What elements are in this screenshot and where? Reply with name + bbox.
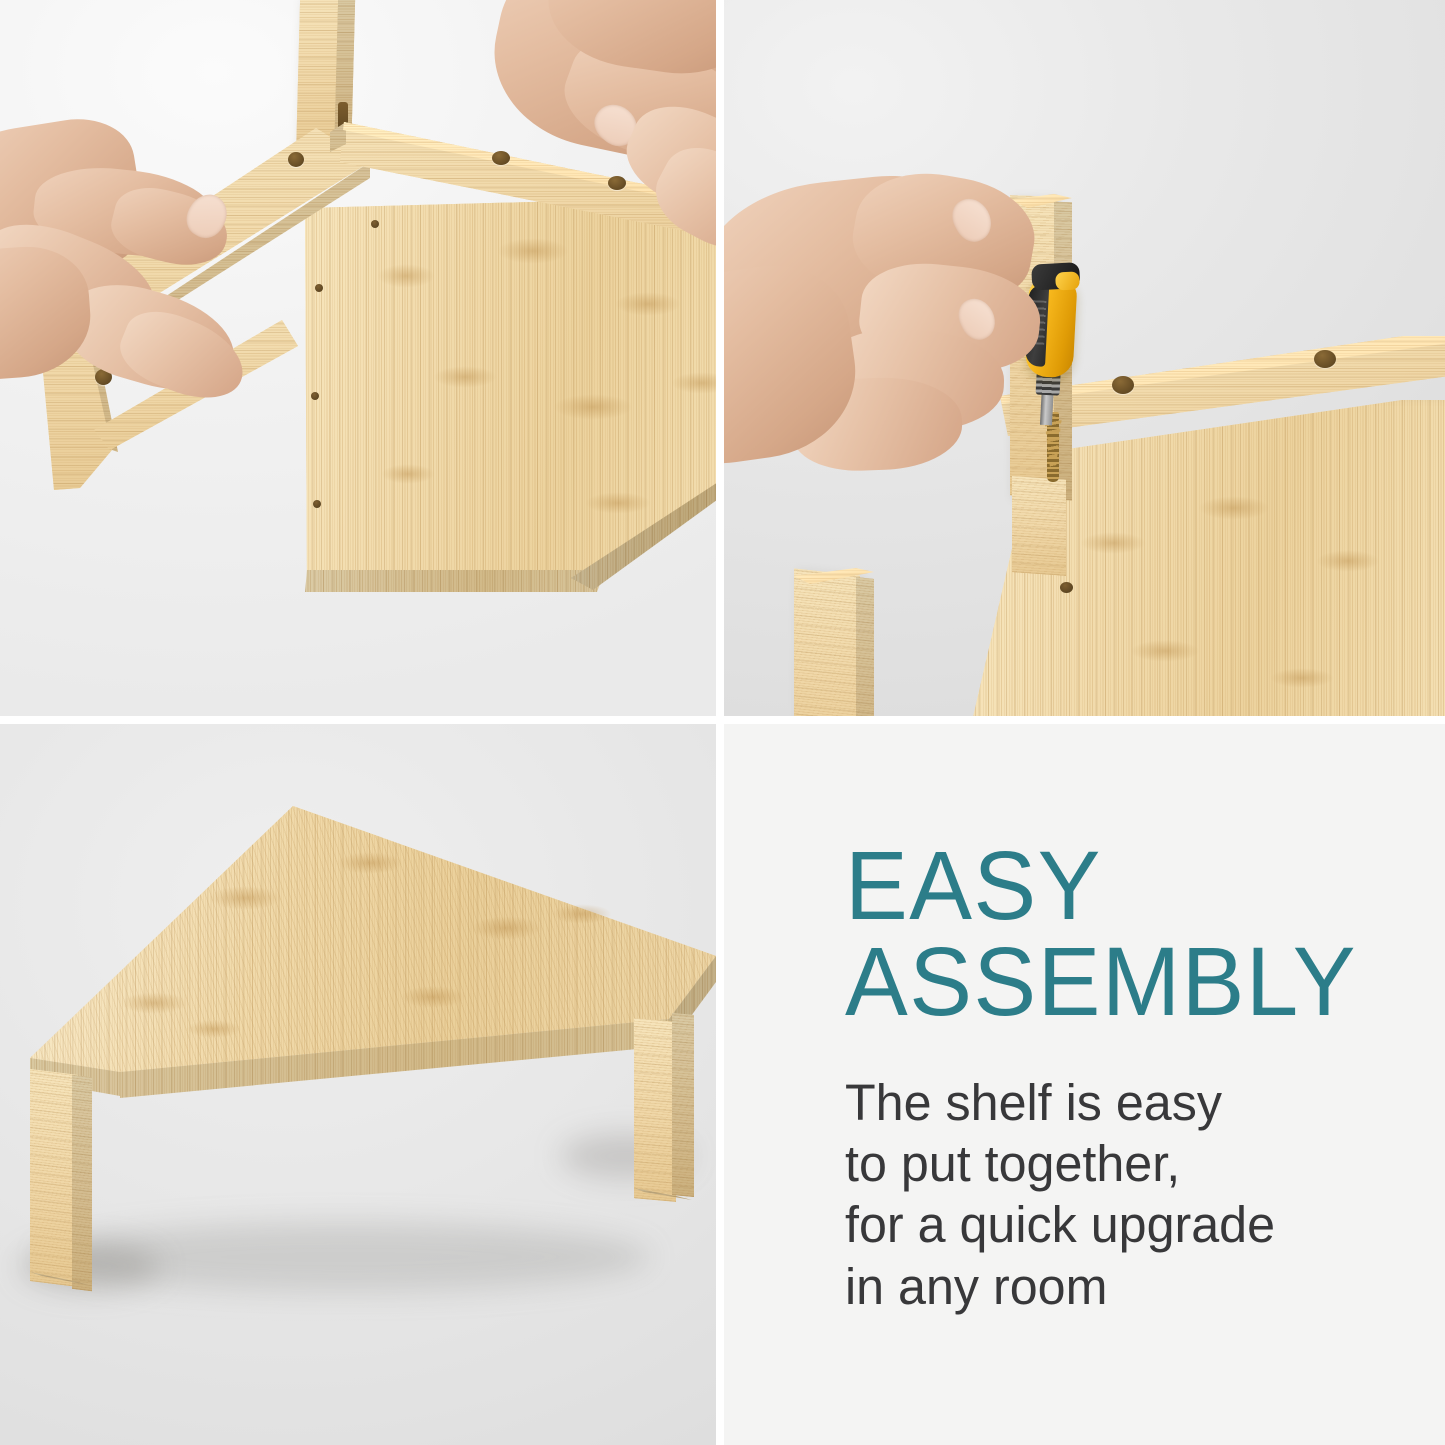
hand-left [0, 108, 290, 438]
panel-assembly-step-screwing [724, 0, 1445, 716]
marketing-copy: EASY ASSEMBLY The shelf is easy to put t… [845, 838, 1405, 1317]
panel-finished-shelf [0, 724, 716, 1445]
shelf-leg-left [24, 1072, 134, 1312]
product-infographic: EASY ASSEMBLY The shelf is easy to put t… [0, 0, 1445, 1445]
headline: EASY ASSEMBLY [845, 838, 1388, 1030]
assembled-corner-shelf [0, 724, 716, 1445]
hand-holding-screwdriver [724, 150, 1124, 480]
shelf-leg-right [630, 1020, 716, 1230]
body-copy: The shelf is easy to put together, for a… [845, 1072, 1397, 1317]
hand-right [420, 0, 716, 280]
panel-assembly-step-frame [0, 0, 716, 716]
bamboo-leg-foreground [794, 572, 934, 716]
